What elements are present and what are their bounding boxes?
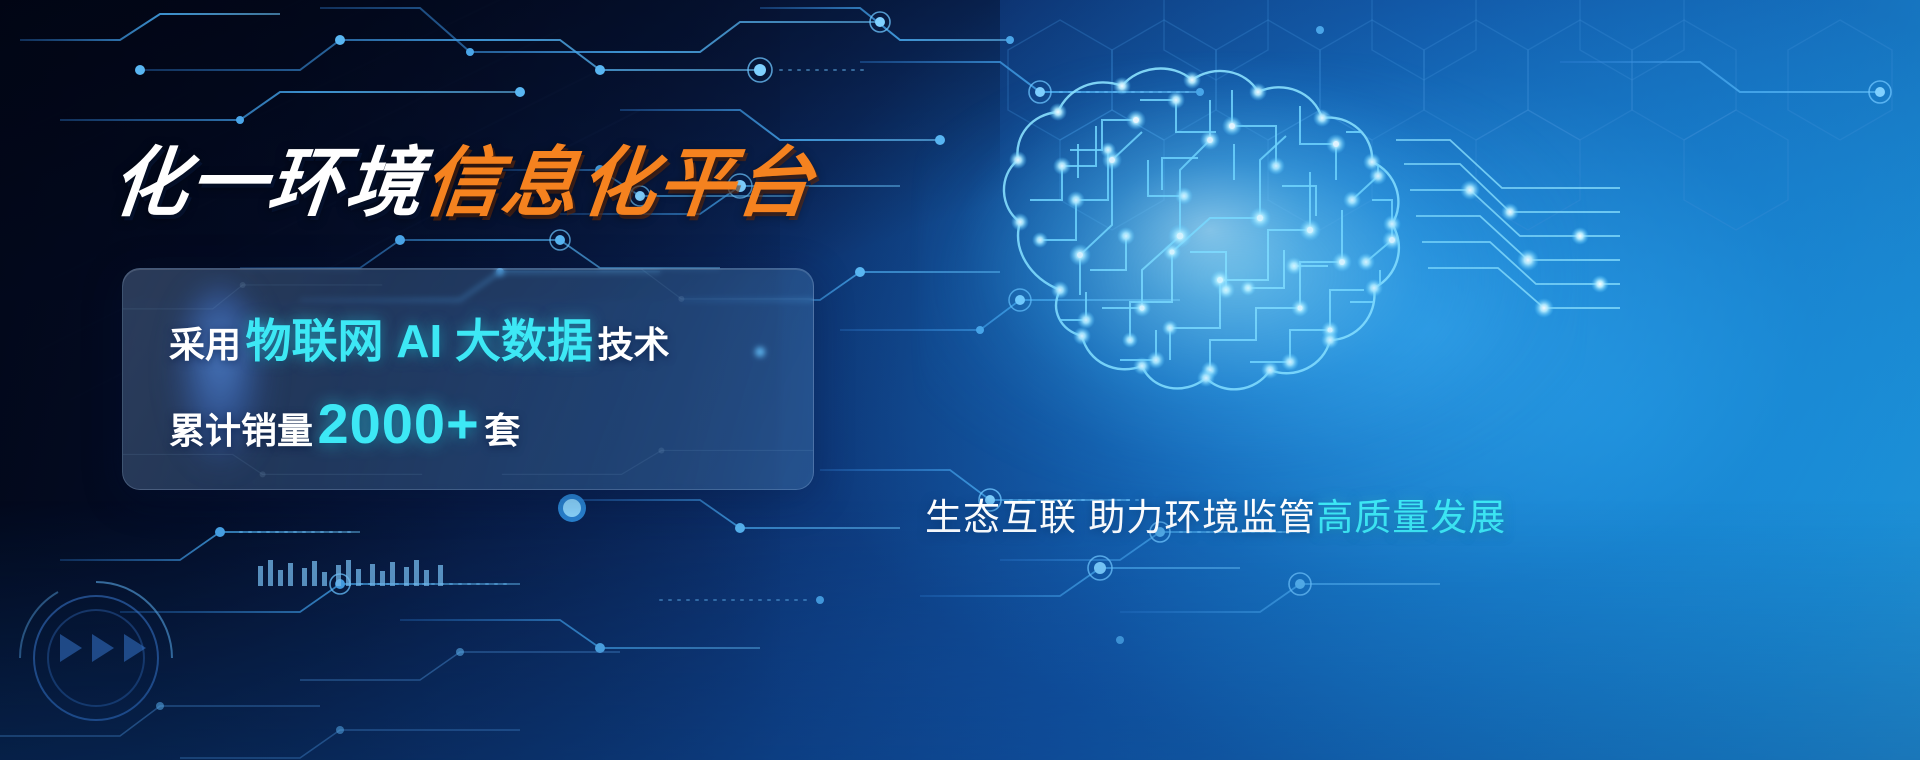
title-part-white: 化一环境 [108,141,429,226]
card-line-1: 采用 物联网 AI 大数据 技术 [169,305,670,371]
tagline-part-white: 生态互联 助力环境监管 [925,497,1316,538]
card-line-2: 累计销量 2000+ 套 [169,391,520,456]
banner-tagline: 生态互联 助力环境监管高质量发展 [925,487,1506,541]
card-line1-prefix: 采用 [169,324,241,365]
title-part-orange: 信息化平台 [420,141,819,226]
banner-title: 化一环境信息化平台 [108,146,818,222]
card-line1-highlight: 物联网 AI 大数据 [245,315,593,367]
feature-card: 采用 物联网 AI 大数据 技术 累计销量 2000+ 套 [122,268,814,490]
promo-banner: 化一环境信息化平台 采用 物联网 AI 大数据 技术 累计销量 2000+ 套 [0,0,1920,760]
hud-decoration [0,530,760,760]
card-line2-suffix: 套 [484,410,520,451]
card-line2-prefix: 累计销量 [169,410,313,451]
circuit-brain-graphic [880,40,1620,510]
equalizer-bars [258,560,448,590]
card-line2-number: 2000+ [317,392,479,455]
card-line1-suffix: 技术 [597,324,669,365]
tagline-part-cyan: 高质量发展 [1316,497,1506,538]
card-circuit-lines [123,269,813,490]
